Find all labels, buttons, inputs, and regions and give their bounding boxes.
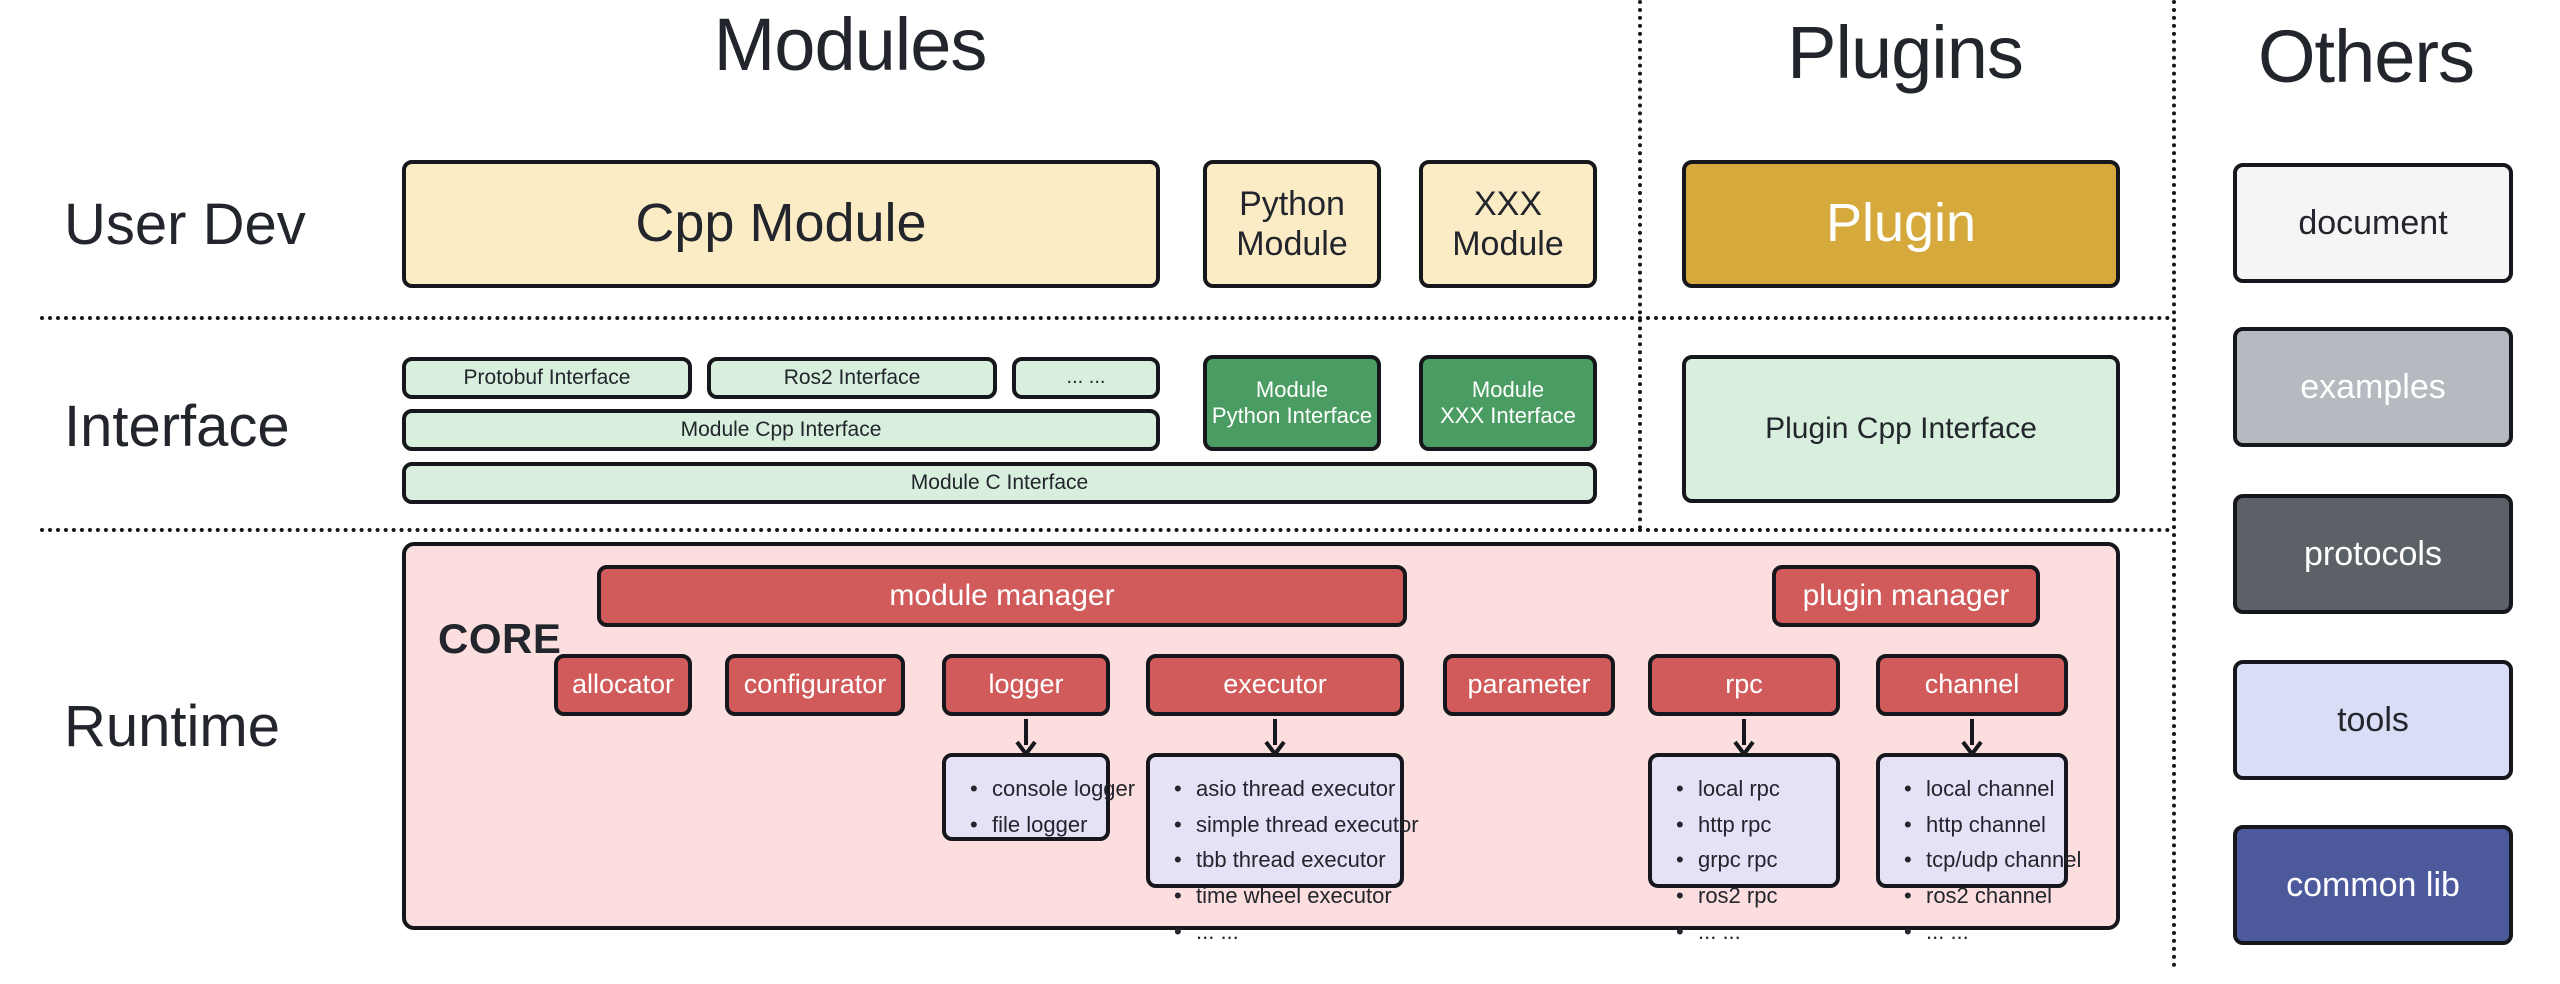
plugin-manager-box[interactable]: plugin manager — [1772, 565, 2040, 627]
list-item: ... ... — [1926, 914, 2048, 950]
divider-interface-runtime — [40, 528, 2172, 532]
divider-plugins-others — [2172, 0, 2176, 968]
logger-arrow-icon — [1012, 718, 1040, 756]
logger-box[interactable]: logger — [942, 654, 1110, 716]
list-item: ... ... — [1698, 914, 1820, 950]
module-xxx-interface-box[interactable]: Module XXX Interface — [1419, 355, 1597, 451]
list-item: ... ... — [1196, 914, 1384, 950]
python-module-box[interactable]: Python Module — [1203, 160, 1381, 288]
plugin-cpp-interface-box[interactable]: Plugin Cpp Interface — [1682, 355, 2120, 503]
list-item: local rpc — [1698, 771, 1820, 807]
executor-details-box: asio thread executorsimple thread execut… — [1146, 753, 1404, 888]
list-item: asio thread executor — [1196, 771, 1384, 807]
list-item: http channel — [1926, 807, 2048, 843]
executor-arrow-icon — [1261, 718, 1289, 756]
list-item: local channel — [1926, 771, 2048, 807]
row-label-user-dev: User Dev — [64, 196, 306, 254]
module-python-interface-box[interactable]: Module Python Interface — [1203, 355, 1381, 451]
others-item-protocols[interactable]: protocols — [2233, 494, 2513, 614]
others-item-document[interactable]: document — [2233, 163, 2513, 283]
executor-details-list: asio thread executorsimple thread execut… — [1168, 771, 1384, 949]
channel-box[interactable]: channel — [1876, 654, 2068, 716]
row-label-runtime: Runtime — [64, 698, 280, 756]
list-item: grpc rpc — [1698, 842, 1820, 878]
channel-arrow-icon — [1958, 718, 1986, 756]
list-item: tcp/udp channel — [1926, 842, 2048, 878]
xxx-module-box[interactable]: XXX Module — [1419, 160, 1597, 288]
list-item: console logger — [992, 771, 1090, 807]
divider-userdev-interface — [40, 316, 2172, 320]
more-interface-box[interactable]: ... ... — [1012, 357, 1160, 399]
column-title-plugins: Plugins — [1640, 16, 2170, 90]
cpp-module-box[interactable]: Cpp Module — [402, 160, 1160, 288]
channel-details-list: local channelhttp channeltcp/udp channel… — [1898, 771, 2048, 949]
architecture-diagram: Modules Plugins Others User Dev Interfac… — [0, 0, 2560, 984]
module-c-interface-box[interactable]: Module C Interface — [402, 462, 1597, 504]
rpc-details-list: local rpchttp rpcgrpc rpcros2 rpc... ... — [1670, 771, 1820, 949]
module-manager-box[interactable]: module manager — [597, 565, 1407, 627]
ros2-interface-box[interactable]: Ros2 Interface — [707, 357, 997, 399]
divider-modules-plugins — [1638, 0, 1642, 530]
core-label: CORE — [438, 615, 561, 663]
channel-details-box: local channelhttp channeltcp/udp channel… — [1876, 753, 2068, 888]
list-item: time wheel executor — [1196, 878, 1384, 914]
executor-box[interactable]: executor — [1146, 654, 1404, 716]
plugin-box[interactable]: Plugin — [1682, 160, 2120, 288]
list-item: tbb thread executor — [1196, 842, 1384, 878]
logger-details-list: console loggerfile logger — [964, 771, 1090, 842]
logger-details-box: console loggerfile logger — [942, 753, 1110, 841]
column-title-modules: Modules — [60, 8, 1640, 82]
list-item: simple thread executor — [1196, 807, 1384, 843]
module-cpp-interface-box[interactable]: Module Cpp Interface — [402, 409, 1160, 451]
others-item-common-lib[interactable]: common lib — [2233, 825, 2513, 945]
column-title-others: Others — [2176, 20, 2556, 94]
list-item: file logger — [992, 807, 1090, 843]
parameter-box[interactable]: parameter — [1443, 654, 1615, 716]
list-item: ros2 rpc — [1698, 878, 1820, 914]
list-item: http rpc — [1698, 807, 1820, 843]
rpc-box[interactable]: rpc — [1648, 654, 1840, 716]
rpc-details-box: local rpchttp rpcgrpc rpcros2 rpc... ... — [1648, 753, 1840, 888]
rpc-arrow-icon — [1730, 718, 1758, 756]
row-label-interface: Interface — [64, 398, 290, 456]
others-item-tools[interactable]: tools — [2233, 660, 2513, 780]
configurator-box[interactable]: configurator — [725, 654, 905, 716]
others-item-examples[interactable]: examples — [2233, 327, 2513, 447]
list-item: ros2 channel — [1926, 878, 2048, 914]
allocator-box[interactable]: allocator — [554, 654, 692, 716]
protobuf-interface-box[interactable]: Protobuf Interface — [402, 357, 692, 399]
